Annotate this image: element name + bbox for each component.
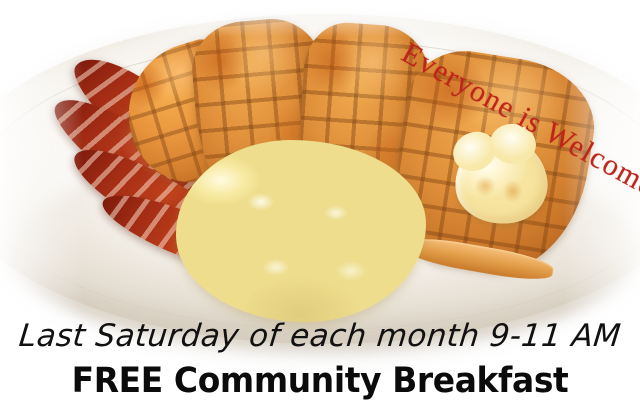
scrambled-eggs [176, 140, 426, 322]
breakfast-poster: Everyone is Welcome! Last Saturday of ea… [0, 0, 640, 409]
schedule-tagline: Last Saturday of each month 9-11 AM [0, 318, 640, 354]
poster-headline: FREE Community Breakfast [19, 361, 621, 401]
